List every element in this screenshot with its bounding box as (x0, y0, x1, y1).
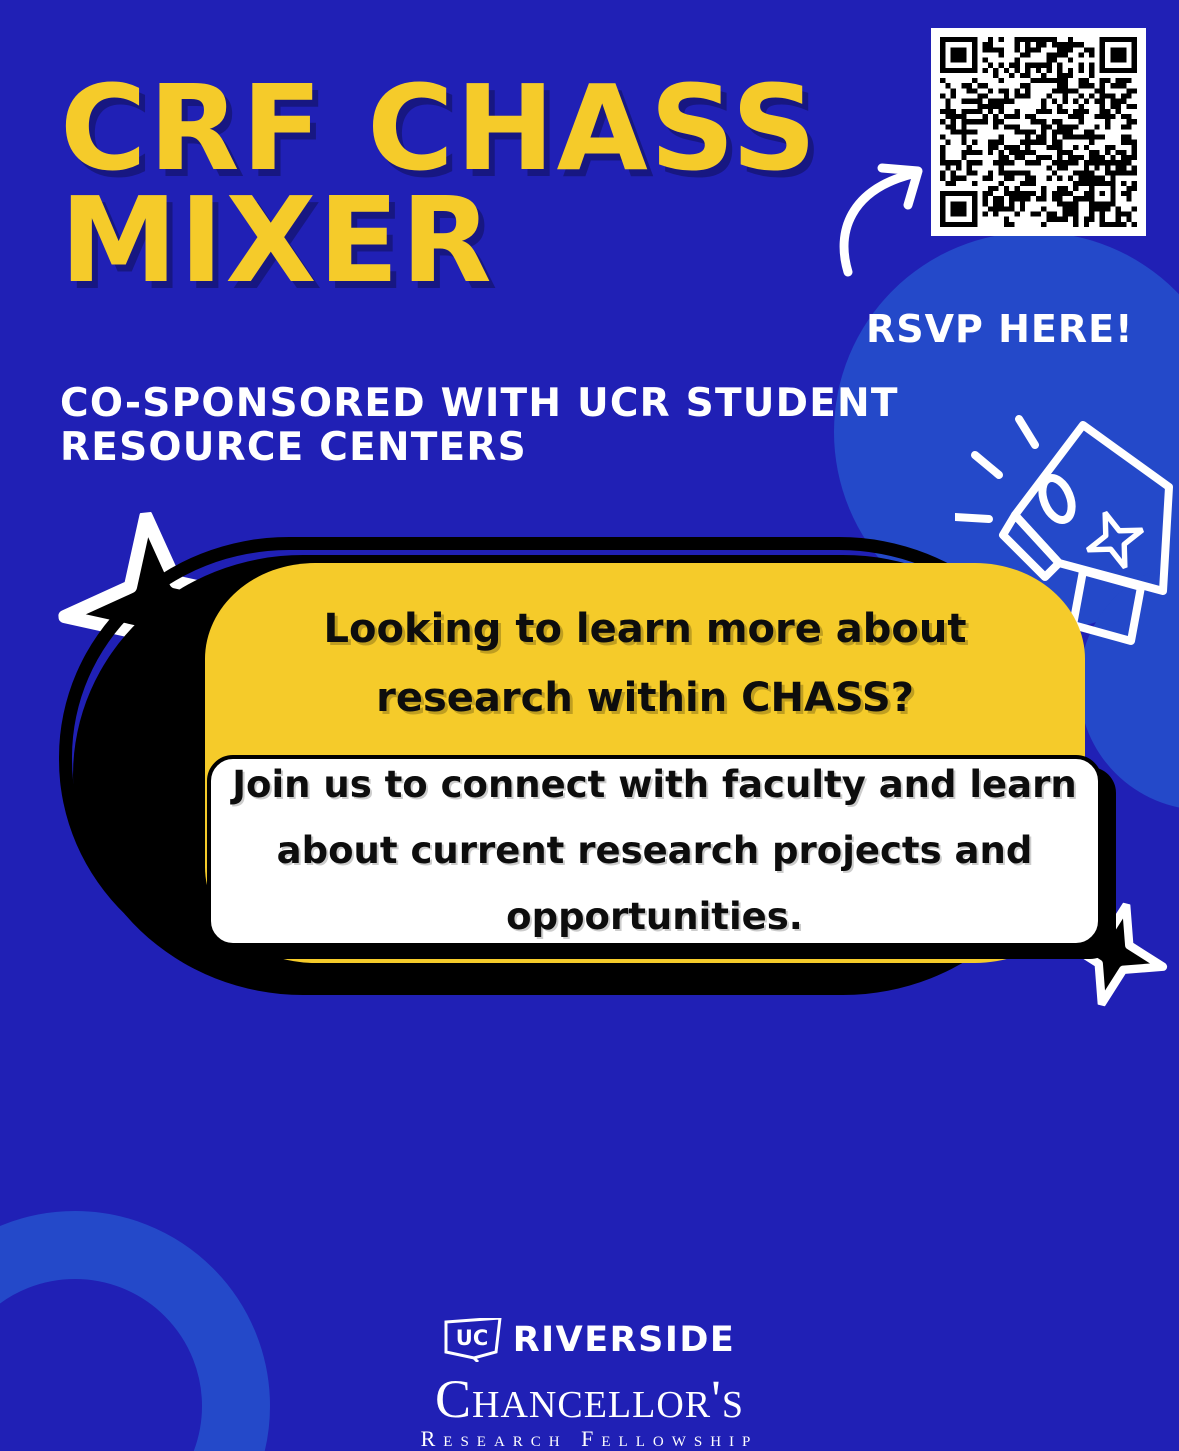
callout-box: Looking to learn more about research wit… (55, 533, 1135, 1013)
event-details: Wednesday FEB 4th 11: 00 am - 1:30 pm HU… (0, 1045, 1179, 1275)
page-title: CRF CHASS MIXER (60, 72, 880, 296)
rsvp-label: RSVP HERE! (866, 307, 1133, 351)
uc-mark-text: UC (455, 1326, 487, 1350)
callout-body-text: Join us to connect with faculty and lear… (230, 752, 1080, 950)
event-flyer: CRF CHASS MIXER CO-SPONSORED WITH UCR ST… (0, 0, 1179, 1451)
inner-white-panel: Join us to connect with faculty and lear… (207, 755, 1102, 947)
footer-logo: UC RIVERSIDE Chancellor's Research Fello… (0, 1318, 1179, 1451)
uc-shield-icon: UC (444, 1318, 502, 1362)
qr-code-canvas (940, 37, 1137, 227)
callout-question: Looking to learn more about research wit… (230, 595, 1060, 733)
uc-riverside-logo: UC RIVERSIDE (444, 1318, 736, 1362)
subtitle: CO-SPONSORED WITH UCR STUDENT RESOURCE C… (60, 382, 920, 469)
program-name: Chancellor's (0, 1371, 1179, 1428)
riverside-label: RIVERSIDE (513, 1320, 736, 1360)
qr-code[interactable] (931, 28, 1146, 236)
program-subtitle: Research Fellowship (0, 1426, 1179, 1451)
